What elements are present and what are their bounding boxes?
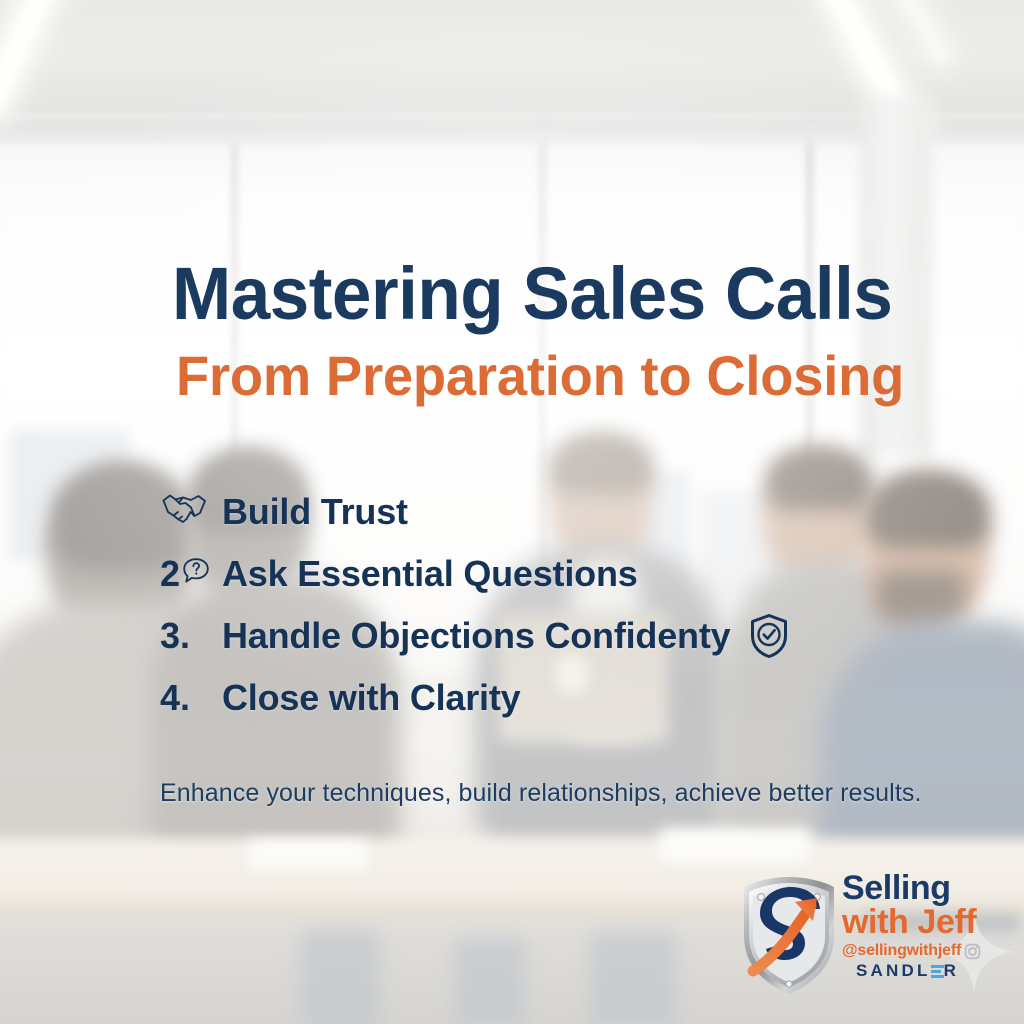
step-label: Build Trust xyxy=(222,491,408,533)
page-subtitle: From Preparation to Closing xyxy=(176,348,904,404)
step-number: 4. xyxy=(160,677,190,719)
logo-wordmark: Selling with Jeff @sellingwithjeff SANDL xyxy=(842,872,1022,981)
step-number: 3. xyxy=(160,615,190,657)
list-item: Build Trust xyxy=(160,482,920,542)
step-number: 2 xyxy=(160,553,180,595)
step-marker: 4. xyxy=(160,677,222,719)
sandler-text-pre: SANDL xyxy=(856,961,931,981)
step-marker: 2 xyxy=(160,553,222,595)
logo-line-selling: Selling xyxy=(842,872,1022,905)
poster-canvas: Mastering Sales Calls From Preparation t… xyxy=(0,0,1024,1024)
social-handle-row[interactable]: @sellingwithjeff xyxy=(842,942,1022,960)
step-label: Handle Objections Confidenty xyxy=(222,615,730,657)
list-item: 4. Close with Clarity xyxy=(160,668,920,728)
logo-line-with-jeff: with Jeff xyxy=(842,905,1022,940)
step-label: Close with Clarity xyxy=(222,677,520,719)
step-marker: 3. xyxy=(160,615,222,657)
list-item: 2 Ask Essential Questions xyxy=(160,544,920,604)
brand-logo: Selling with Jeff @sellingwithjeff SANDL xyxy=(730,868,1020,1008)
steps-list: Build Trust 2 Ask Essential Questions xyxy=(160,482,920,730)
sandler-wordmark: SANDL R xyxy=(856,961,1022,981)
sandler-text-post: R xyxy=(944,961,959,981)
list-item: 3. Handle Objections Confidenty xyxy=(160,606,920,666)
instagram-icon[interactable] xyxy=(964,943,981,960)
shield-check-icon xyxy=(748,612,790,660)
tagline: Enhance your techniques, build relations… xyxy=(160,779,922,808)
step-marker xyxy=(160,491,222,534)
social-handle[interactable]: @sellingwithjeff xyxy=(842,942,961,960)
question-bubble-icon xyxy=(181,553,211,595)
poster-content: Mastering Sales Calls From Preparation t… xyxy=(0,0,1024,1024)
handshake-icon xyxy=(160,491,208,534)
step-label: Ask Essential Questions xyxy=(222,553,638,595)
shield-s-arrow-icon xyxy=(735,874,843,998)
page-title: Mastering Sales Calls xyxy=(172,258,892,331)
